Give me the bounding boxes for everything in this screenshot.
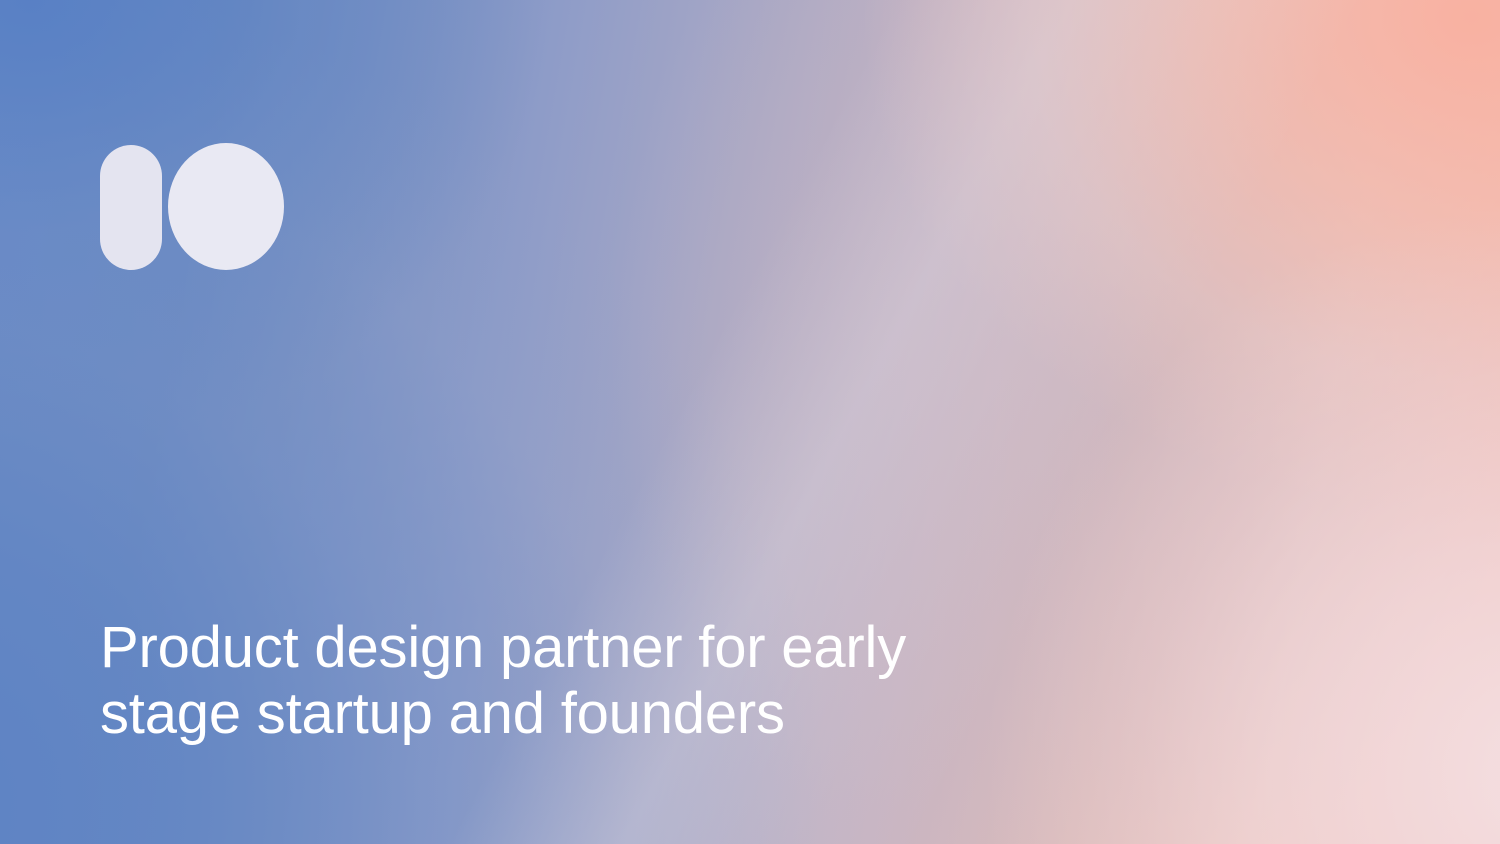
logo-pill-shape-icon <box>100 145 162 270</box>
hero-headline: Product design partner for early stage s… <box>100 615 940 747</box>
hero-banner: Product design partner for early stage s… <box>0 0 1500 844</box>
logo-circle-shape-icon <box>168 143 284 270</box>
brand-logo[interactable] <box>100 143 285 271</box>
